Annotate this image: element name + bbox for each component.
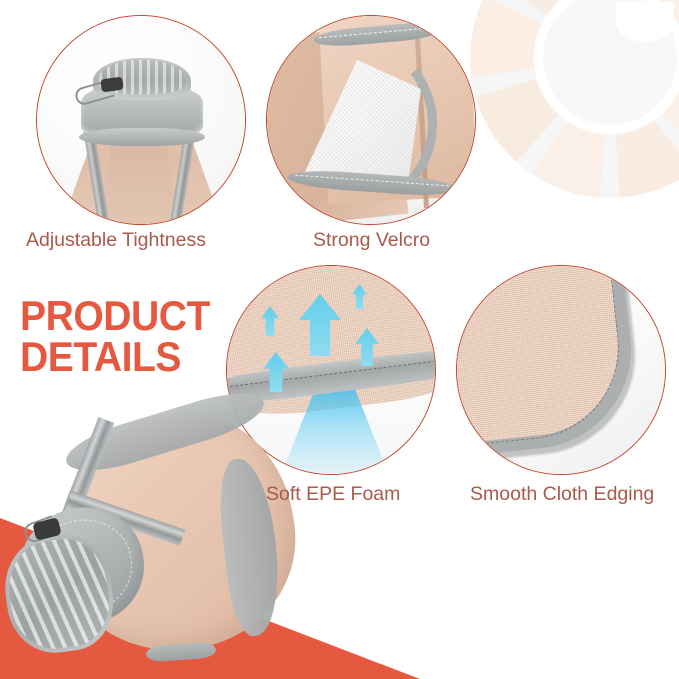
feature-image-inner <box>267 16 475 224</box>
airflow-arrow-icon <box>299 294 341 356</box>
collar-band-edge <box>79 128 205 146</box>
page-title-line2: DETAILS <box>20 336 210 377</box>
feature-caption-strong-velcro: Strong Velcro <box>313 229 430 252</box>
collar-neck-notch <box>616 2 674 42</box>
page-title: PRODUCT DETAILS <box>20 295 210 377</box>
airflow-arrow-icon <box>261 306 279 336</box>
feature-image-inner <box>457 266 665 474</box>
infographic-canvas: Adjustable Tightness Strong Velcro PRODU… <box>0 0 679 679</box>
feature-caption-adjustable-tightness: Adjustable Tightness <box>26 229 206 252</box>
feature-image-strong-velcro[interactable] <box>266 15 476 225</box>
hero-product-image[interactable] <box>6 398 306 679</box>
feature-image-smooth-cloth-edging[interactable] <box>456 265 666 475</box>
feature-image-inner <box>37 16 245 224</box>
feature-caption-soft-epe-foam: Soft EPE Foam <box>266 483 400 506</box>
feature-image-adjustable-tightness[interactable] <box>36 15 246 225</box>
airflow-arrow-icon <box>263 352 289 392</box>
airflow-arrow-icon <box>355 328 379 366</box>
page-title-line1: PRODUCT <box>20 292 210 339</box>
feature-caption-smooth-cloth-edging: Smooth Cloth Edging <box>470 483 654 506</box>
airflow-arrow-icon <box>352 284 367 309</box>
faded-collar-graphic <box>470 0 679 198</box>
